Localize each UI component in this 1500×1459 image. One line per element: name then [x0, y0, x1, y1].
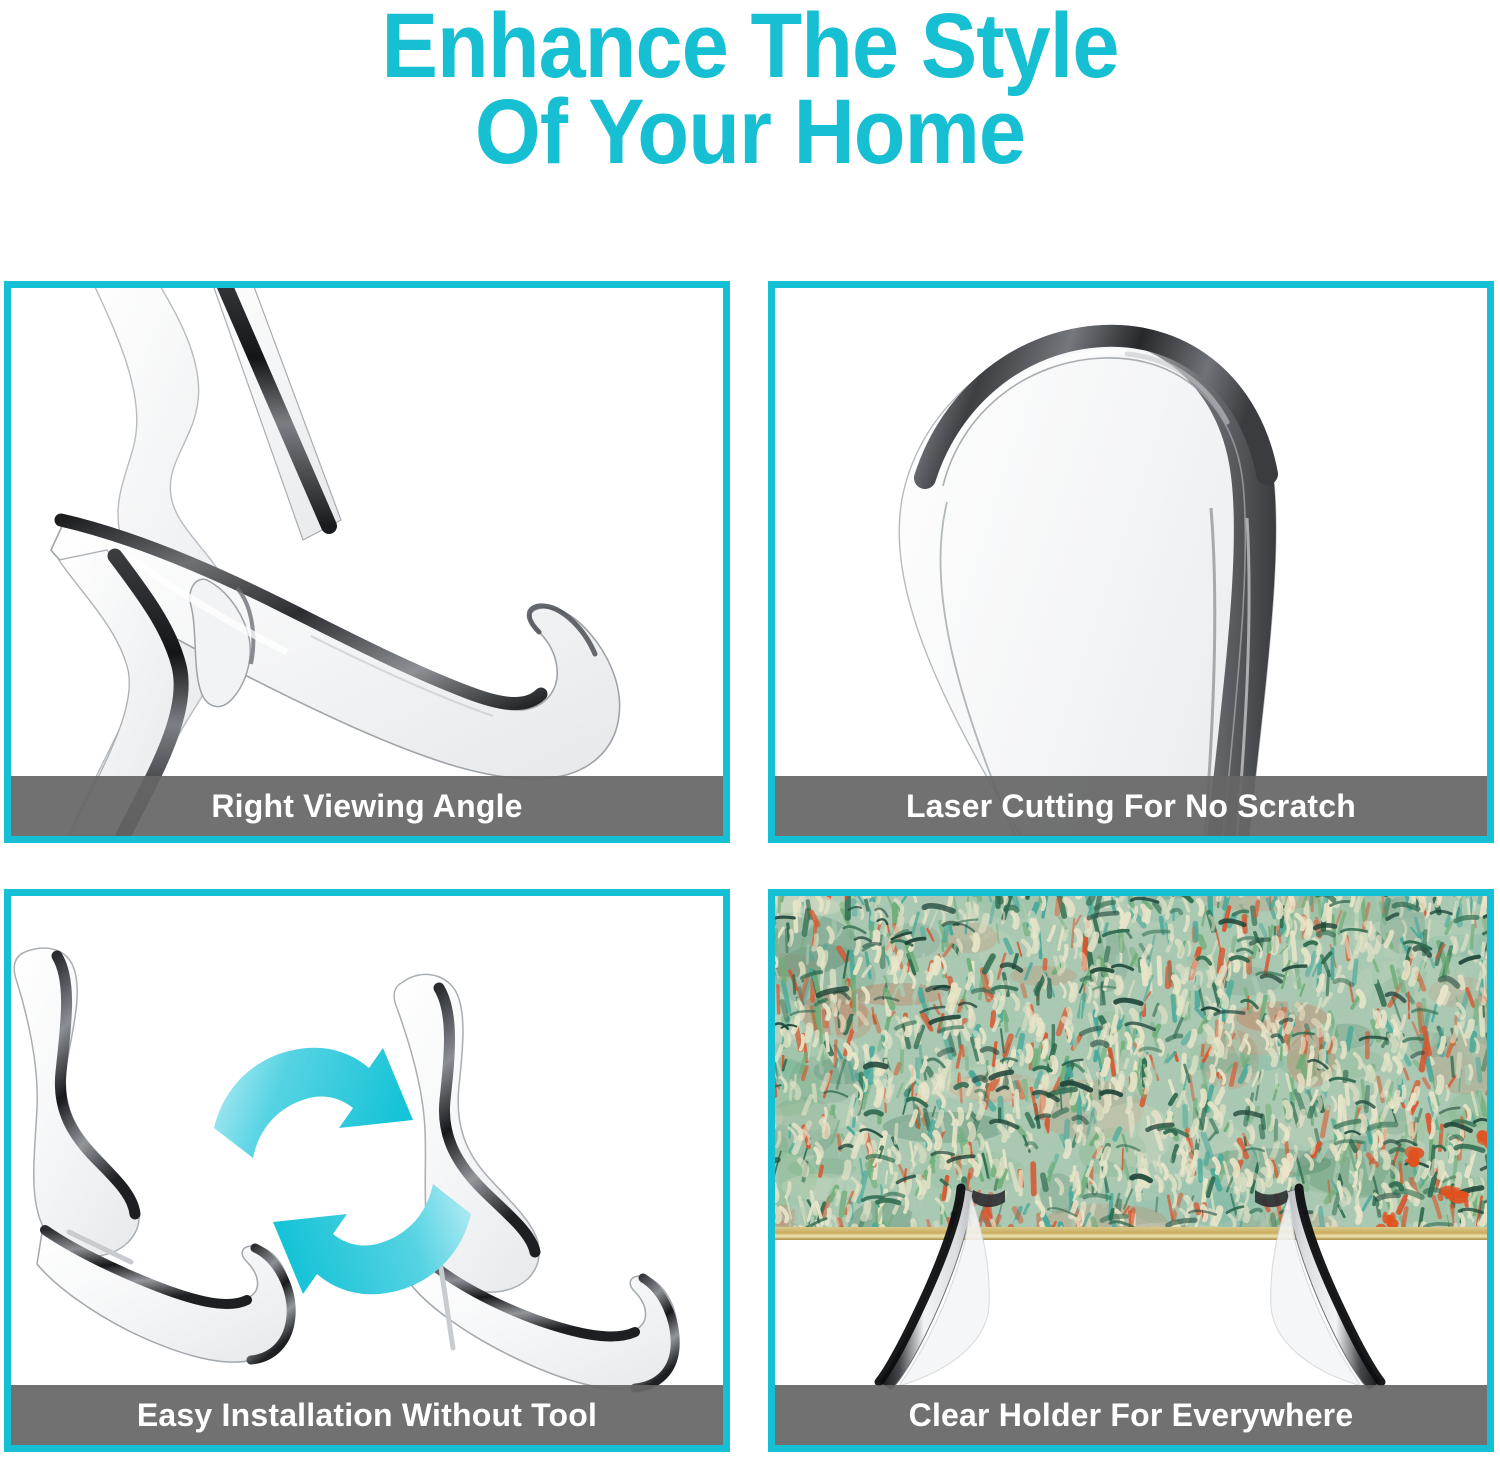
artwork-meadow-painting: [775, 896, 1487, 1240]
feature-panel-easy-installation[interactable]: Easy Installation Without Tool: [4, 889, 730, 1452]
brushstroke-texture: [775, 896, 1487, 1240]
panel-image-stage: [11, 288, 723, 836]
feature-panel-clear-holder[interactable]: Clear Holder For Everywhere: [768, 889, 1494, 1452]
easel-stand-right: [394, 974, 677, 1388]
page-title-line-1: Enhance The Style: [60, 4, 1440, 90]
curved-arrow-right-icon: [214, 1048, 413, 1158]
page-title-line-2: Of Your Home: [60, 90, 1440, 176]
panel-caption: Clear Holder For Everywhere: [775, 1385, 1487, 1445]
panel-caption: Right Viewing Angle: [11, 776, 723, 836]
assembly-rotation-arrows-icon: [11, 896, 723, 1445]
acrylic-easel-closeup-icon: [11, 288, 723, 836]
panel-image-stage: [775, 896, 1487, 1445]
acrylic-edge-macro-icon: [775, 288, 1487, 836]
panel-image-stage: [11, 896, 723, 1445]
feature-panel-right-viewing-angle[interactable]: Right Viewing Angle: [4, 281, 730, 843]
infographic-page: Enhance The Style Of Your Home: [0, 0, 1500, 1459]
page-title: Enhance The Style Of Your Home: [60, 0, 1440, 205]
artwork-gold-frame-edge: [775, 1227, 1487, 1240]
panel-caption: Laser Cutting For No Scratch: [775, 776, 1487, 836]
feature-panel-laser-cutting[interactable]: Laser Cutting For No Scratch: [768, 281, 1494, 843]
panel-image-stage: [775, 288, 1487, 836]
panel-caption: Easy Installation Without Tool: [11, 1385, 723, 1445]
